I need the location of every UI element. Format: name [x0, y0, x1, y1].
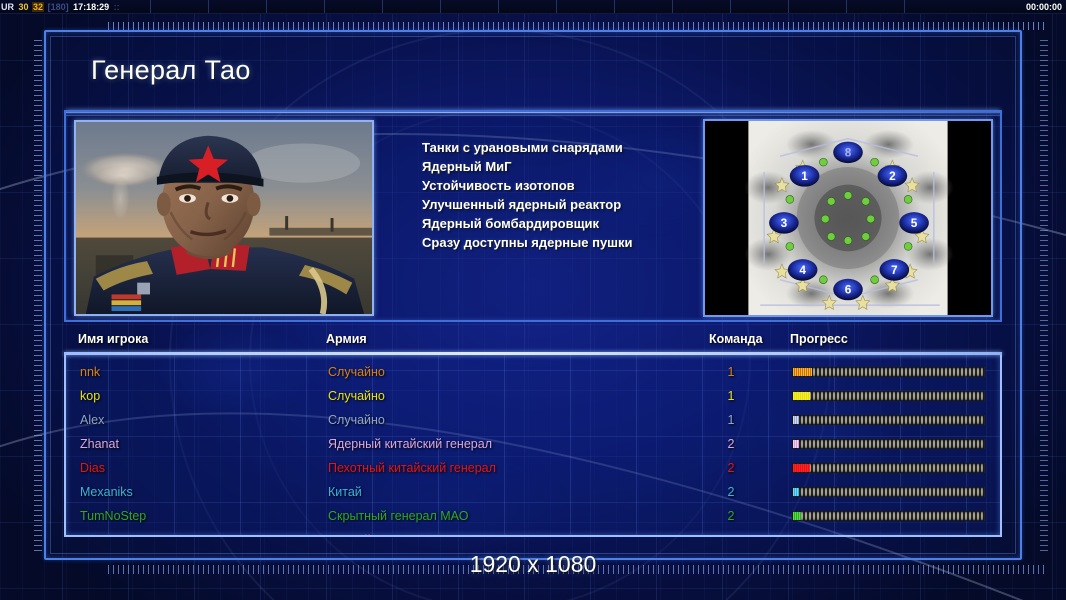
resolution-label: 1920 x 1080 — [0, 551, 1066, 578]
general-portrait — [74, 120, 374, 316]
player-progress-bar — [792, 415, 985, 425]
progress-track — [792, 415, 985, 425]
progress-fill — [793, 512, 801, 520]
player-team: 1 — [720, 528, 742, 537]
ruler-right — [1040, 40, 1048, 552]
player-table-header: Имя игрока Армия Команда Прогресс — [64, 332, 1002, 352]
table-row[interactable]: nnkСлучайно1 — [66, 360, 1000, 384]
hud-bracket: [180] — [47, 2, 70, 12]
ruler-top — [108, 22, 1048, 30]
table-row[interactable]: opTIMusСлучайно1 — [66, 528, 1000, 537]
progress-track — [792, 391, 985, 401]
top-hud-bar: UR 30 32 [180] 17:18:29 :: 00:00:00 — [0, 0, 1066, 14]
progress-track — [792, 439, 985, 449]
progress-track — [792, 511, 985, 521]
hud-clock: 17:18:29 — [72, 2, 110, 12]
game-lobby-screen: UR 30 32 [180] 17:18:29 :: 00:00:00 Гене… — [0, 0, 1066, 600]
progress-fill — [793, 392, 810, 400]
player-name: kop — [80, 384, 100, 408]
feature-item: Улучшенный ядерный реактор — [422, 195, 633, 214]
svg-text:1: 1 — [801, 170, 808, 183]
player-team: 2 — [720, 504, 742, 528]
table-row[interactable]: kopСлучайно1 — [66, 384, 1000, 408]
player-progress-bar — [792, 487, 985, 497]
table-row[interactable]: DiasПехотный китайский генерал2 — [66, 456, 1000, 480]
progress-fill — [793, 536, 799, 537]
table-row[interactable]: ZhanatЯдерный китайский генерал2 — [66, 432, 1000, 456]
svg-text:6: 6 — [845, 283, 852, 296]
player-name: nnk — [80, 360, 100, 384]
feature-item: Устойчивость изотопов — [422, 176, 633, 195]
player-army: Скрытный генерал МАО — [328, 504, 468, 528]
progress-track — [792, 367, 985, 377]
svg-text:2: 2 — [889, 170, 896, 183]
column-header-progress: Прогресс — [790, 332, 848, 346]
svg-text:5: 5 — [911, 217, 918, 230]
player-table: nnkСлучайно1kopСлучайно1AlexСлучайно1Zha… — [64, 355, 1002, 537]
ruler-left — [34, 40, 42, 552]
player-rows-container: nnkСлучайно1kopСлучайно1AlexСлучайно1Zha… — [66, 360, 1000, 537]
player-progress-bar — [792, 391, 985, 401]
main-panel: Генерал Тао — [44, 30, 1022, 560]
table-row[interactable]: AlexСлучайно1 — [66, 408, 1000, 432]
column-header-army: Армия — [326, 332, 367, 346]
player-name: Dias — [80, 456, 105, 480]
progress-fill — [793, 440, 799, 448]
svg-text:3: 3 — [781, 217, 788, 230]
player-army: Случайно — [328, 384, 385, 408]
player-team: 2 — [720, 456, 742, 480]
player-progress-bar — [792, 535, 985, 537]
svg-text:8: 8 — [845, 146, 852, 159]
player-army: Случайно — [328, 360, 385, 384]
player-name: Mexaniks — [80, 480, 133, 504]
player-army: Случайно — [328, 408, 385, 432]
progress-fill — [793, 464, 810, 472]
hud-value-1: 30 — [18, 2, 30, 12]
player-name: TumNoStep — [80, 504, 146, 528]
title-bar: Генерал Тао — [64, 48, 1002, 98]
player-army: Случайно — [328, 528, 385, 537]
column-header-player: Имя игрока — [78, 332, 148, 346]
player-team: 1 — [720, 360, 742, 384]
hud-value-2: 32 — [32, 2, 44, 12]
column-header-team: Команда — [709, 332, 763, 346]
player-team: 2 — [720, 480, 742, 504]
player-name: Alex — [80, 408, 104, 432]
player-team: 1 — [720, 408, 742, 432]
feature-item: Ядерный бомбардировщик — [422, 214, 633, 233]
progress-fill — [793, 488, 799, 496]
feature-item: Сразу доступны ядерные пушки — [422, 233, 633, 252]
player-name: Zhanat — [80, 432, 119, 456]
hud-tick-marks — [150, 0, 956, 13]
player-progress-bar — [792, 463, 985, 473]
progress-track — [792, 463, 985, 473]
progress-fill — [793, 416, 799, 424]
page-title: Генерал Тао — [64, 48, 1002, 92]
table-row[interactable]: TumNoStepСкрытный генерал МАО2 — [66, 504, 1000, 528]
player-army: Ядерный китайский генерал — [328, 432, 492, 456]
general-features: Танки с урановыми снарядами Ядерный МиГ … — [422, 138, 633, 252]
feature-item: Танки с урановыми снарядами — [422, 138, 633, 157]
hud-tail: :: — [113, 2, 121, 12]
progress-track — [792, 487, 985, 497]
hud-label: UR — [0, 2, 15, 12]
player-army: Пехотный китайский генерал — [328, 456, 496, 480]
feature-item: Ядерный МиГ — [422, 157, 633, 176]
player-army: Китай — [328, 480, 362, 504]
player-progress-bar — [792, 439, 985, 449]
progress-track — [792, 535, 985, 537]
player-progress-bar — [792, 367, 985, 377]
hud-right-clock: 00:00:00 — [1026, 0, 1062, 14]
map-preview: 8 1 2 3 5 4 7 6 — [703, 119, 993, 317]
player-progress-bar — [792, 511, 985, 521]
player-team: 2 — [720, 432, 742, 456]
general-info-row: Танки с урановыми снарядами Ядерный МиГ … — [64, 110, 1002, 322]
table-row[interactable]: MexaniksКитай2 — [66, 480, 1000, 504]
player-team: 1 — [720, 384, 742, 408]
svg-text:7: 7 — [891, 264, 898, 277]
progress-fill — [793, 368, 812, 376]
player-name: opTIMus — [80, 528, 129, 537]
svg-text:4: 4 — [799, 264, 806, 277]
